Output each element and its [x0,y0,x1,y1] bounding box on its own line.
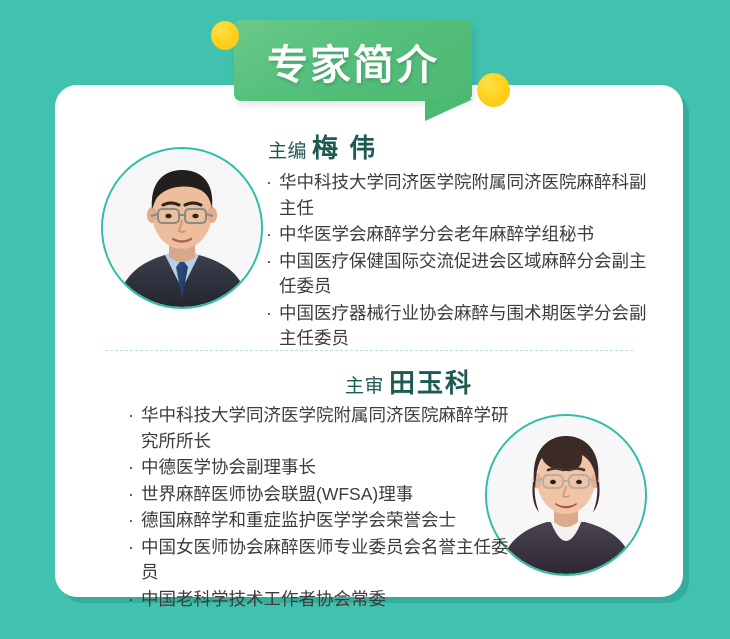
credential-text: 中华医学会麻醉学分会老年麻醉学组秘书 [279,222,658,248]
list-item: · 德国麻醉学和重症监护医学学会荣誉会士 [128,508,520,534]
expert-person-name-mei: 梅 伟 [312,133,377,163]
list-item: · 华中科技大学同济医学院附属同济医院麻醉科副主任 [266,170,658,221]
bullet-icon: · [128,508,134,534]
bullet-icon: · [266,222,272,248]
list-item: · 中国医疗器械行业协会麻醉与围术期医学分会副主任委员 [266,301,658,352]
list-item: · 世界麻醉医师协会联盟(WFSA)理事 [128,482,520,508]
credential-text: 中国医疗保健国际交流促进会区域麻醉分会副主任委员 [279,249,658,300]
credential-text: 中德医学协会副理事长 [141,455,520,481]
section-divider [105,350,633,351]
list-item: · 中华医学会麻醉学分会老年麻醉学组秘书 [266,222,658,248]
bullet-icon: · [128,587,134,613]
list-item: · 中国女医师协会麻醉医师专业委员会名誉主任委员 [128,535,520,586]
bullet-icon: · [128,535,134,561]
avatar-mei-wei-image [103,149,261,307]
credential-text: 德国麻醉学和重症监护医学学会荣誉会士 [141,508,520,534]
list-item: · 中国老科学技术工作者协会常委 [128,587,520,613]
bullet-icon: · [266,301,272,327]
expert-name-mei-wei: 主编梅 伟 [268,128,377,165]
bullet-icon: · [128,482,134,508]
page-title: 专家简介 [234,20,472,101]
list-item: · 中德医学协会副理事长 [128,455,520,481]
banner-bubble-tail [425,99,473,121]
expert-role-label-tian: 主审 [345,376,384,397]
bullet-icon: · [128,455,134,481]
credential-text: 世界麻醉医师协会联盟(WFSA)理事 [141,482,520,508]
expert-role-label-mei: 主编 [268,141,307,162]
expert-person-name-tian: 田玉科 [389,368,473,398]
bullet-icon: · [266,170,272,196]
credential-list-mei-wei: · 华中科技大学同济医学院附属同济医院麻醉科副主任 · 中华医学会麻醉学分会老年… [266,170,658,353]
credential-text: 中国医疗器械行业协会麻醉与围术期医学分会副主任委员 [279,301,658,352]
decorative-dot-right-icon [477,73,510,107]
avatar-mei-wei [101,147,263,309]
bullet-icon: · [266,249,272,275]
expert-name-tian-yuke: 主审田玉科 [345,363,473,400]
bullet-icon: · [128,403,134,429]
credential-text: 中国女医师协会麻醉医师专业委员会名誉主任委员 [141,535,520,586]
header-banner: 专家简介 [0,0,730,125]
credential-text: 华中科技大学同济医学院附属同济医院麻醉学研究所所长 [141,403,520,454]
credential-list-tian-yuke: · 华中科技大学同济医学院附属同济医院麻醉学研究所所长 · 中德医学协会副理事长… [128,403,520,613]
list-item: · 中国医疗保健国际交流促进会区域麻醉分会副主任委员 [266,249,658,300]
credential-text: 中国老科学技术工作者协会常委 [141,587,520,613]
list-item: · 华中科技大学同济医学院附属同济医院麻醉学研究所所长 [128,403,520,454]
credential-text: 华中科技大学同济医学院附属同济医院麻醉科副主任 [279,170,658,221]
